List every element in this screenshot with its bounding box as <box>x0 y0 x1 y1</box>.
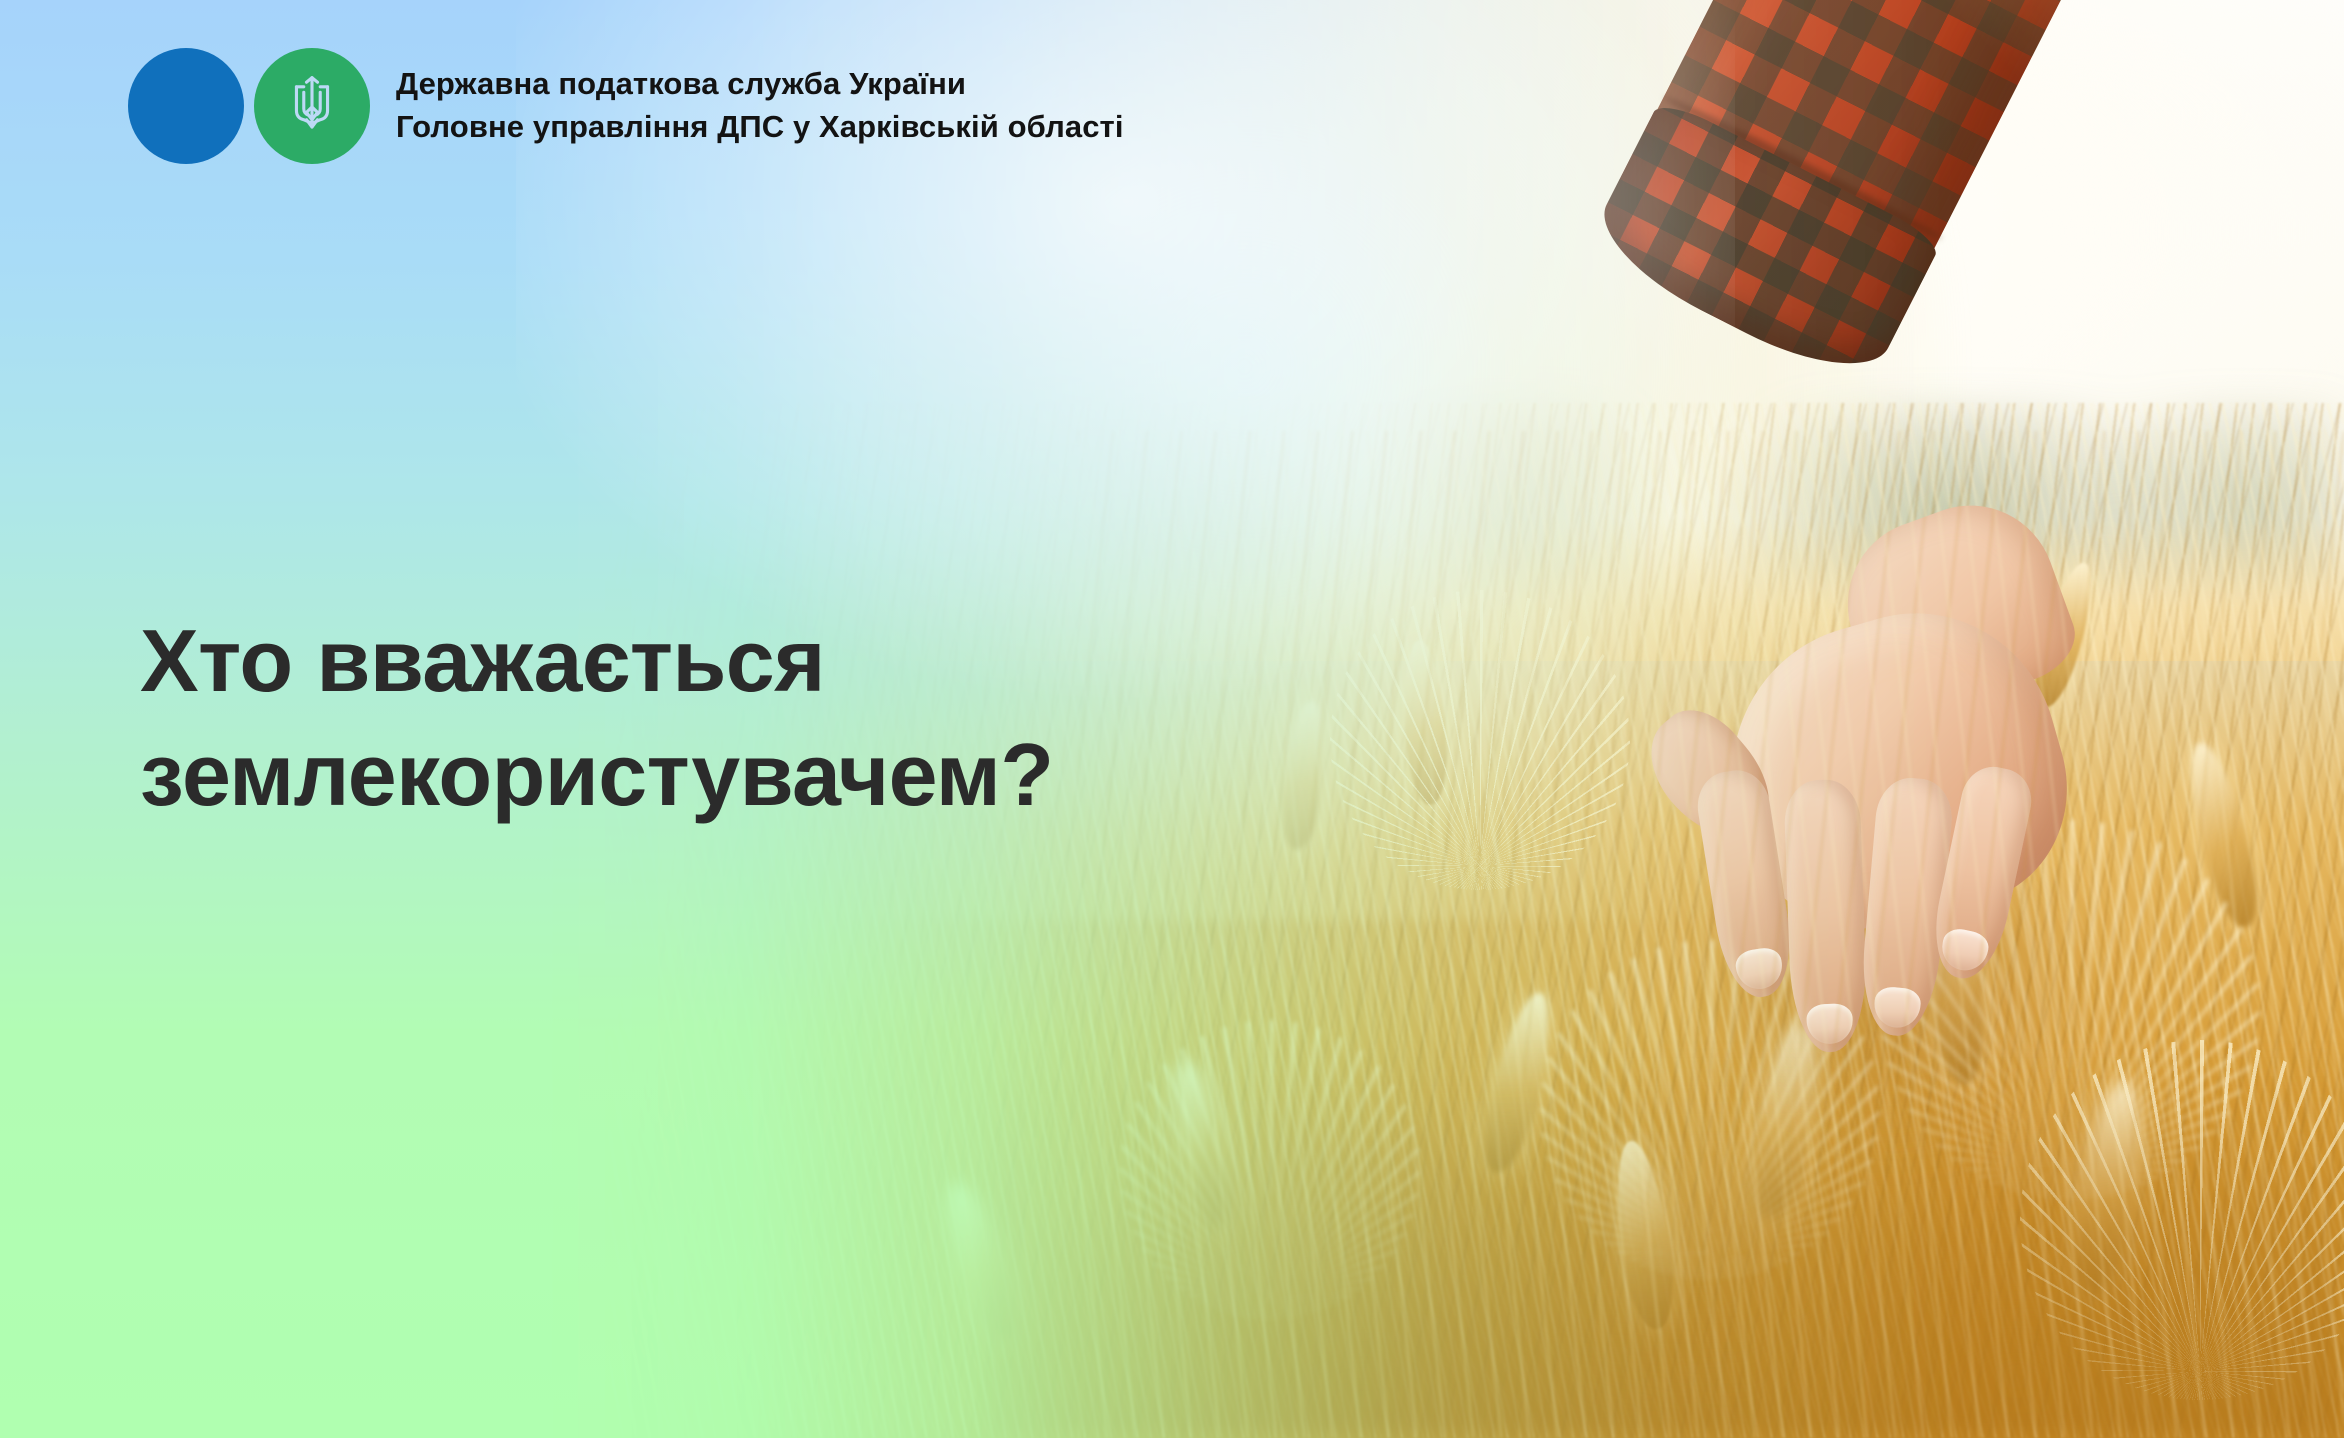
headline-line-1: Хто вважається <box>140 604 1320 718</box>
headline-block: Хто вважається землекористувачем? <box>140 604 1320 833</box>
headline-line-2: землекористувачем? <box>140 718 1320 832</box>
logo-circle-blue-icon <box>128 48 244 164</box>
ukrainian-trident-icon <box>284 74 340 138</box>
logo-circle-green-icon <box>254 48 370 164</box>
brand-header: Державна податкова служба України Головн… <box>128 48 1124 164</box>
promo-banner: Державна податкова служба України Головн… <box>0 0 2344 1438</box>
dps-logo <box>128 48 370 164</box>
org-name-line-1: Державна податкова служба України <box>396 67 1124 102</box>
org-name-block: Державна податкова служба України Головн… <box>396 67 1124 144</box>
org-name-line-2: Головне управління ДПС у Харківській обл… <box>396 110 1124 145</box>
